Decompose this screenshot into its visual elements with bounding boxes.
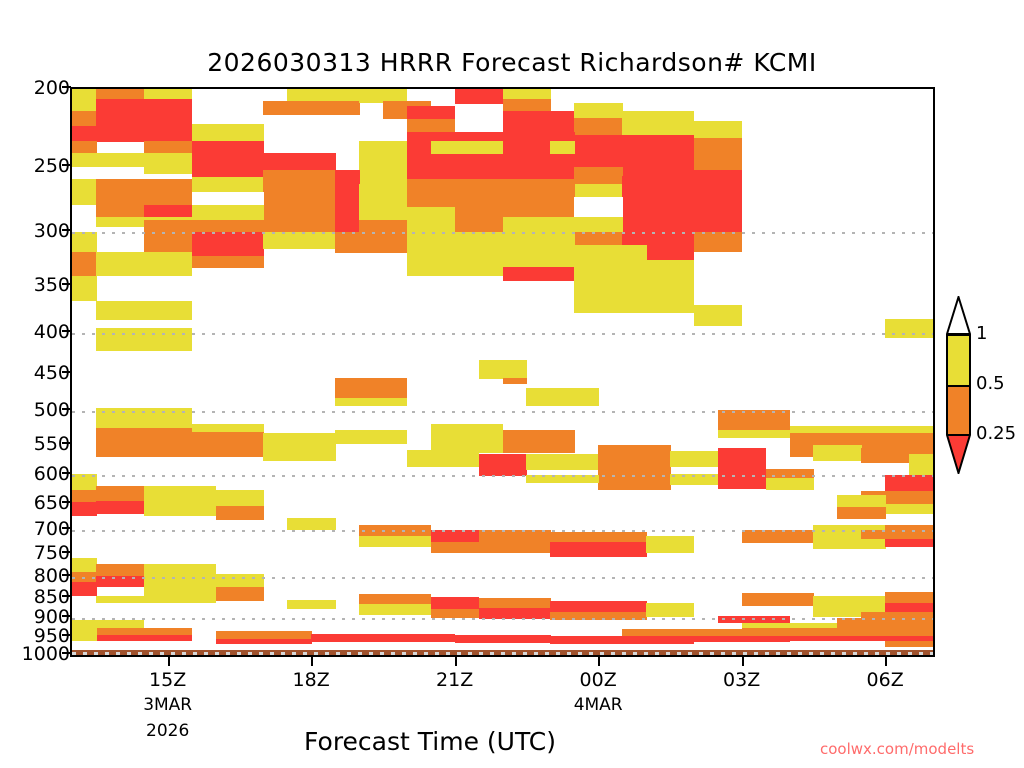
heatmap-cell [431,597,479,610]
heatmap-cell [263,232,335,250]
heatmap-cell [96,408,192,429]
heatmap-cell [96,252,192,276]
heatmap-cell [72,111,97,126]
heatmap-cell [503,99,551,111]
colorbar-segment-yellow [948,336,969,386]
heatmap-cell [574,118,622,136]
heatmap-cell [72,276,97,302]
heatmap-cell [407,179,455,208]
y-tick-label: 550 [8,433,70,455]
heatmap-cell [550,601,646,612]
heatmap-cell [96,301,192,320]
y-tick-label: 250 [8,155,70,177]
heatmap-cell [718,448,766,475]
heatmap-cell [503,89,551,100]
heatmap-cell [455,179,503,218]
heatmap-cell [861,530,933,540]
heatmap-cell [813,445,861,461]
x-tick-label: 06Z [840,669,930,691]
x-tick-mark [168,657,170,666]
heatmap-cell [598,445,670,476]
heatmap-cell [598,475,670,490]
heatmap-cell [311,634,455,642]
heatmap-cell [359,220,407,253]
y-axis: 2002503003504004505005506006507007508008… [0,87,70,657]
heatmap-cell [72,232,97,253]
heatmap-cell [503,234,575,268]
heatmap-cell [72,179,97,206]
heatmap-cell [96,89,144,100]
x-tick-label: 03Z [697,669,787,691]
heatmap-cell [96,99,192,141]
heatmap-cell [359,141,407,154]
heatmap-cell [574,197,622,218]
x-tick-mark [311,657,313,666]
heatmap-cell [574,217,622,232]
heatmap-cell [144,486,216,516]
heatmap-cell [359,594,431,605]
heatmap-cell [216,506,264,520]
chart-title: 2026030313 HRRR Forecast Richardson# KCM… [0,48,1024,77]
heatmap-cell [694,252,742,276]
heatmap-cell [503,217,575,234]
heatmap-cell [263,452,335,461]
heatmap-cell [359,119,407,141]
heatmap-cell [503,378,528,384]
heatmap-cell [72,153,144,167]
heatmap-cell [216,587,264,600]
heatmap-cell [72,558,97,572]
heatmap-cell [144,141,192,154]
heatmap-cell [192,232,264,257]
heatmap-cell [694,138,742,171]
heatmap-cell [96,428,192,456]
x-tick-label: 21Z [410,669,500,691]
x-tick-mark [885,657,887,666]
x-tick-label: 00Z [553,669,643,691]
heatmap-cell [479,608,551,619]
heatmap-cell [192,205,264,220]
heatmap-cell [550,636,694,644]
heatmap-cell [263,153,335,171]
heatmap-cell [455,104,503,119]
colorbar-segment-orange [948,386,969,436]
terrain-dotted-edge [72,652,933,655]
heatmap-cell [431,609,479,618]
heatmap-cell [287,518,335,530]
heatmap-cell [407,132,575,179]
y-tick-label: 500 [8,399,70,421]
heatmap-cell [455,89,503,105]
heatmap-cell [622,176,694,232]
heatmap-cell [455,635,551,643]
heatmap-cell [72,582,97,597]
heatmap-cell [359,536,431,548]
heatmap-cell [96,596,216,604]
y-tick-label: 450 [8,362,70,384]
heatmap-cell [837,495,885,507]
heatmap-cell [550,141,575,154]
heatmap-cell [526,388,598,406]
heatmap-cell [335,398,407,406]
heatmap-cells [72,89,933,655]
heatmap-cell [216,639,312,644]
heatmap-cell [742,628,934,636]
x-tick-mark [455,657,457,666]
heatmap-cell [837,506,885,519]
heatmap-cell [694,170,742,232]
heatmap-cell [335,430,407,444]
heatmap-cell [718,430,790,437]
heatmap-cell [335,232,360,253]
heatmap-cell [287,89,359,102]
heatmap-cell [96,564,144,576]
x-tick-label: 18Z [266,669,356,691]
heatmap-cell [335,378,407,399]
heatmap-cell [455,217,503,232]
y-tick-label: 400 [8,321,70,343]
heatmap-cell [96,576,144,587]
heatmap-cell [431,542,479,554]
heatmap-cell [144,153,192,174]
x-tick-sublabel: 3MAR [113,695,223,715]
heatmap-cell [96,635,192,641]
watermark: coolwx.com/modelts [820,740,974,758]
colorbar-legend: 10.50.25 [938,296,1024,474]
heatmap-cell [503,179,575,218]
heatmap-cell [503,267,575,281]
heatmap-cell [742,530,814,543]
heatmap-cell [192,177,264,192]
heatmap-cell [718,474,766,488]
heatmap-cell [479,530,551,541]
heatmap-cell [72,490,97,503]
heatmap-cell [574,184,622,198]
heatmap-cell [526,475,598,483]
heatmap-cell [72,252,97,276]
heatmap-cell [407,106,455,120]
heatmap-cell [479,540,551,553]
y-tick-label: 650 [8,492,70,514]
colorbar-tick-label: 0.5 [976,373,1005,394]
heatmap-cell [96,501,144,514]
heatmap-cell [694,121,742,139]
heatmap-cell [479,598,551,609]
y-tick-label: 850 [8,586,70,608]
colorbar-tick-label: 1 [976,323,987,344]
heatmap-cell [263,433,335,453]
heatmap-cell [670,474,718,484]
heatmap-cell [526,454,598,470]
heatmap-cell [287,600,335,609]
heatmap-cell [263,101,359,115]
heatmap-cell [72,141,97,154]
heatmap-cell [694,305,742,326]
colorbar-tick-label: 0.25 [976,423,1016,444]
heatmap-cell [574,245,646,281]
heatmap-cell [407,450,479,467]
heatmap-cell [885,641,933,647]
heatmap-cell [192,256,264,267]
heatmap-cell [622,135,694,176]
y-tick-label: 600 [8,463,70,485]
heatmap-cell [503,430,575,453]
heatmap-cell [622,629,742,636]
heatmap-cell [359,604,431,615]
heatmap-cell [72,626,97,642]
heatmap-cell [431,141,503,154]
heatmap-cell [574,103,622,118]
colorbar-cap-bottom [946,434,971,472]
y-tick-label: 750 [8,542,70,564]
heatmap-cell [407,207,455,232]
heatmap-cell [479,360,527,379]
y-tick-label: 300 [8,220,70,242]
heatmap-cell [766,478,814,490]
heatmap-cell [192,192,264,205]
heatmap-cell [861,448,909,463]
heatmap-cell [96,328,192,350]
heatmap-cell [431,424,503,453]
heatmap-cell [407,232,503,253]
heatmap-cell [72,502,97,515]
y-tick-label: 200 [8,77,70,99]
x-axis-label: Forecast Time (UTC) [70,727,790,756]
heatmap-cell [646,291,694,314]
heatmap-cell [670,451,718,467]
heatmap-cell [885,319,933,337]
heatmap-cell [646,603,694,617]
heatmap-cell [216,574,264,588]
heatmap-cell [479,454,527,476]
heatmap-cell [192,432,264,457]
colorbar-divider [948,385,969,387]
heatmap-cell [407,119,455,132]
heatmap-cell [359,525,431,537]
heatmap-cell [574,167,622,184]
heatmap-cell [885,475,933,492]
heatmap-cell [192,141,264,178]
heatmap-cell [192,124,264,142]
heatmap-cell [646,536,694,554]
heatmap-cell [72,89,97,112]
heatmap-cell [718,410,790,431]
heatmap-cell [216,490,264,507]
x-tick-mark [598,657,600,666]
heatmap-cell [885,592,933,604]
heatmap-cell [144,564,216,596]
heatmap-cell [694,232,742,253]
y-tick-label: 800 [8,565,70,587]
heatmap-cell [622,111,694,136]
heatmap-cell [359,184,407,220]
chart-page: 2026030313 HRRR Forecast Richardson# KCM… [0,0,1024,768]
y-tick-label: 700 [8,518,70,540]
y-tick-label: 1000 [8,643,70,665]
heatmap-cell [72,474,97,490]
heatmap-cell [335,197,360,232]
x-tick-sublabel: 4MAR [543,695,653,715]
heatmap-cell [742,593,814,606]
heatmap-cell [574,232,622,246]
heatmap-cell [96,486,144,502]
heatmap-cell [813,596,885,608]
heatmap-cell [72,126,97,142]
heatmap-cell [550,612,646,620]
heatmap-cell [550,542,646,557]
x-tick-label: 15Z [123,669,213,691]
y-tick-label: 350 [8,274,70,296]
heatmap-cell [909,454,934,476]
heatmap-cell [335,170,360,197]
heatmap-cell [359,153,407,184]
x-tick-mark [742,657,744,666]
heatmap-cell [407,252,503,276]
colorbar-cap-top [946,296,971,334]
colorbar-body [946,334,971,434]
plot-area [70,87,935,657]
heatmap-cell [431,530,479,543]
heatmap-cell [574,135,622,168]
